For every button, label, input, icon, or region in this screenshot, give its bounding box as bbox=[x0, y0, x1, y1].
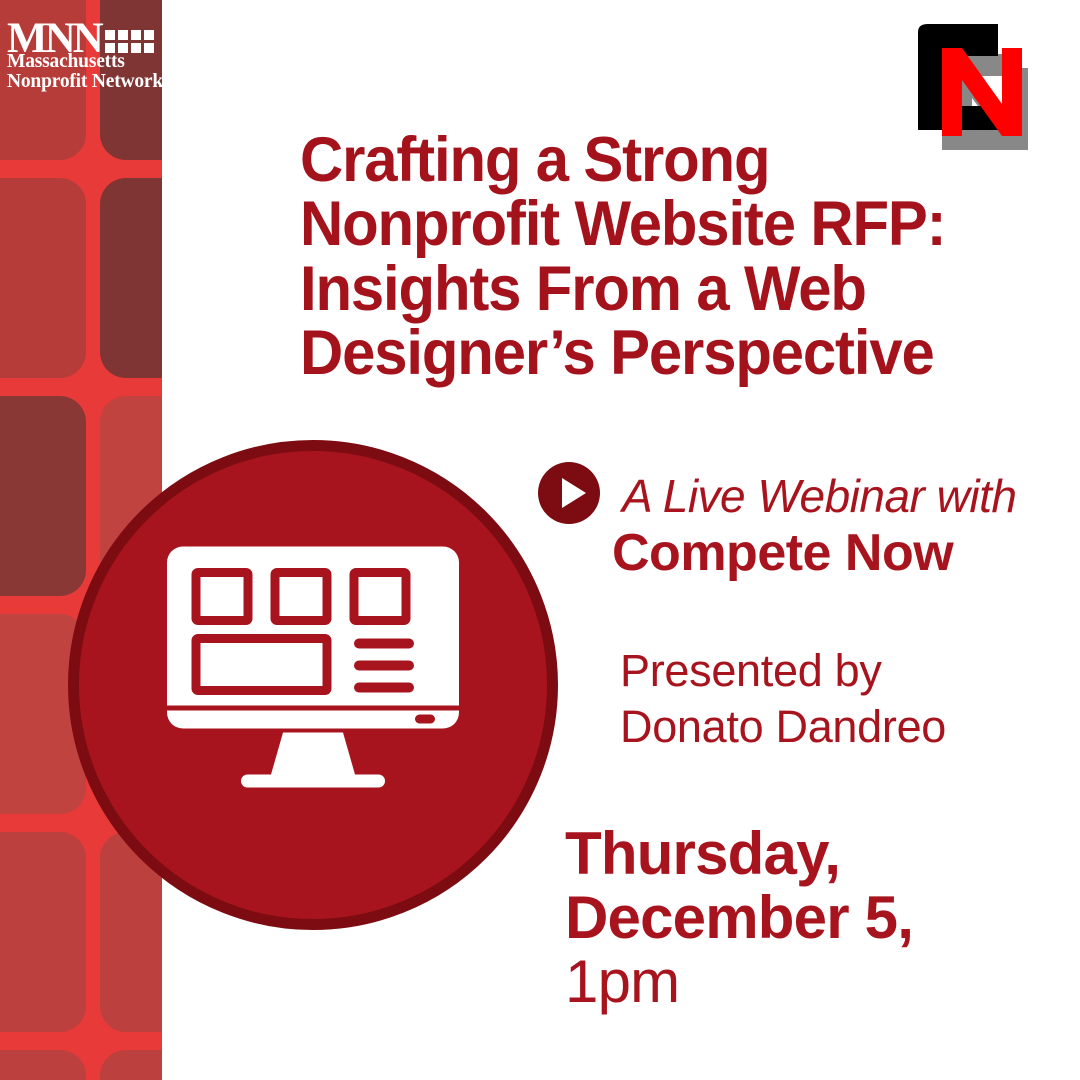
play-circle-icon bbox=[538, 462, 600, 529]
compete-now-logo bbox=[908, 18, 1058, 163]
strip-tile bbox=[100, 1050, 162, 1080]
mnn-squares-icon bbox=[105, 30, 154, 53]
presenter-text: Presented by Donato Dandreo bbox=[620, 643, 946, 756]
strip-tile bbox=[0, 396, 86, 596]
event-time: 1pm bbox=[565, 950, 913, 1014]
strip-tile bbox=[100, 178, 162, 378]
mnn-organization-name: Massachusetts Nonprofit Network bbox=[7, 52, 163, 91]
event-date: Thursday, December 5, bbox=[565, 822, 913, 950]
strip-tile bbox=[0, 178, 86, 378]
monitor-badge bbox=[68, 440, 558, 930]
brand-name: Compete Now bbox=[612, 523, 953, 583]
strip-tile bbox=[0, 832, 86, 1032]
webinar-promo-poster: MNN Massachusetts Nonprofit Network bbox=[0, 0, 1080, 1080]
desktop-monitor-wireframe-icon bbox=[163, 543, 463, 828]
event-date-block: Thursday, December 5, 1pm bbox=[565, 822, 913, 1015]
webinar-line: A Live Webinar with bbox=[538, 462, 1016, 529]
mnn-logo: MNN Massachusetts Nonprofit Network bbox=[0, 0, 175, 100]
strip-tile bbox=[0, 1050, 86, 1080]
webinar-label: A Live Webinar with bbox=[622, 469, 1016, 523]
page-title: Crafting a Strong Nonprofit Website RFP:… bbox=[300, 128, 994, 385]
